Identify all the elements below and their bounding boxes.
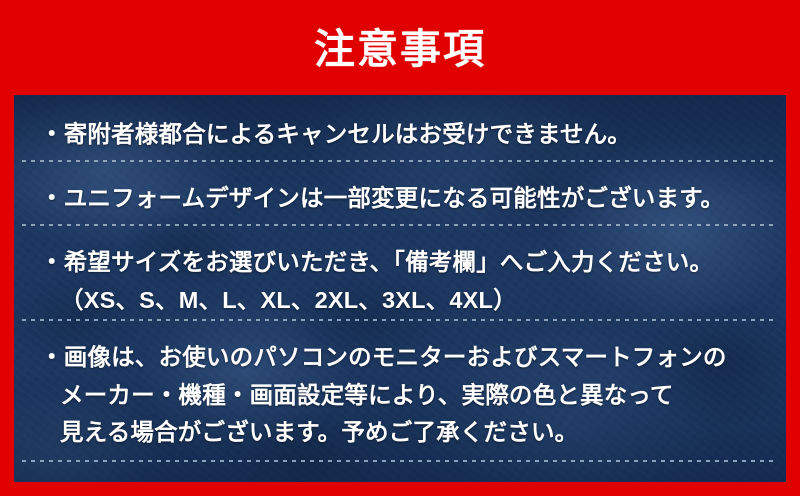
- notice-text: ・画像は、お使いのパソコンのモニターおよびスマートフォンの: [40, 346, 760, 370]
- notice-panel: ・寄附者様都合によるキャンセルはお受けできません。 ・ユニフォームデザインは一部…: [14, 95, 786, 482]
- notice-text: ・寄附者様都合によるキャンセルはお受けできません。: [40, 123, 760, 147]
- list-item: ・寄附者様都合によるキャンセルはお受けできません。: [14, 123, 786, 147]
- page-title: 注意事項: [314, 29, 486, 70]
- notice-list: ・寄附者様都合によるキャンセルはお受けできません。 ・ユニフォームデザインは一部…: [14, 95, 786, 482]
- notice-text: ・希望サイズをお選びいただき、「備考欄」へご入力ください。: [40, 251, 760, 275]
- notice-text: ・ユニフォームデザインは一部変更になる可能性がございます。: [40, 187, 760, 211]
- list-item: ・画像は、お使いのパソコンのモニターおよびスマートフォンの メーカー・機種・画面…: [14, 346, 786, 445]
- notice-size-options: （XS、S、M、L、XL、2XL、3XL、4XL）: [40, 289, 760, 313]
- notice-banner: 注意事項 ・寄附者様都合によるキャンセルはお受けできません。 ・ユニフォームデザ…: [0, 0, 800, 496]
- list-item: ・ユニフォームデザインは一部変更になる可能性がございます。: [14, 187, 786, 211]
- title-bar: 注意事項: [0, 0, 800, 95]
- list-item: ・希望サイズをお選びいただき、「備考欄」へご入力ください。 （XS、S、M、L、…: [14, 251, 786, 312]
- notice-text: メーカー・機種・画面設定等により、実際の色と異なって: [40, 384, 760, 408]
- notice-text: 見える場合がございます。予めご了承ください。: [40, 421, 760, 445]
